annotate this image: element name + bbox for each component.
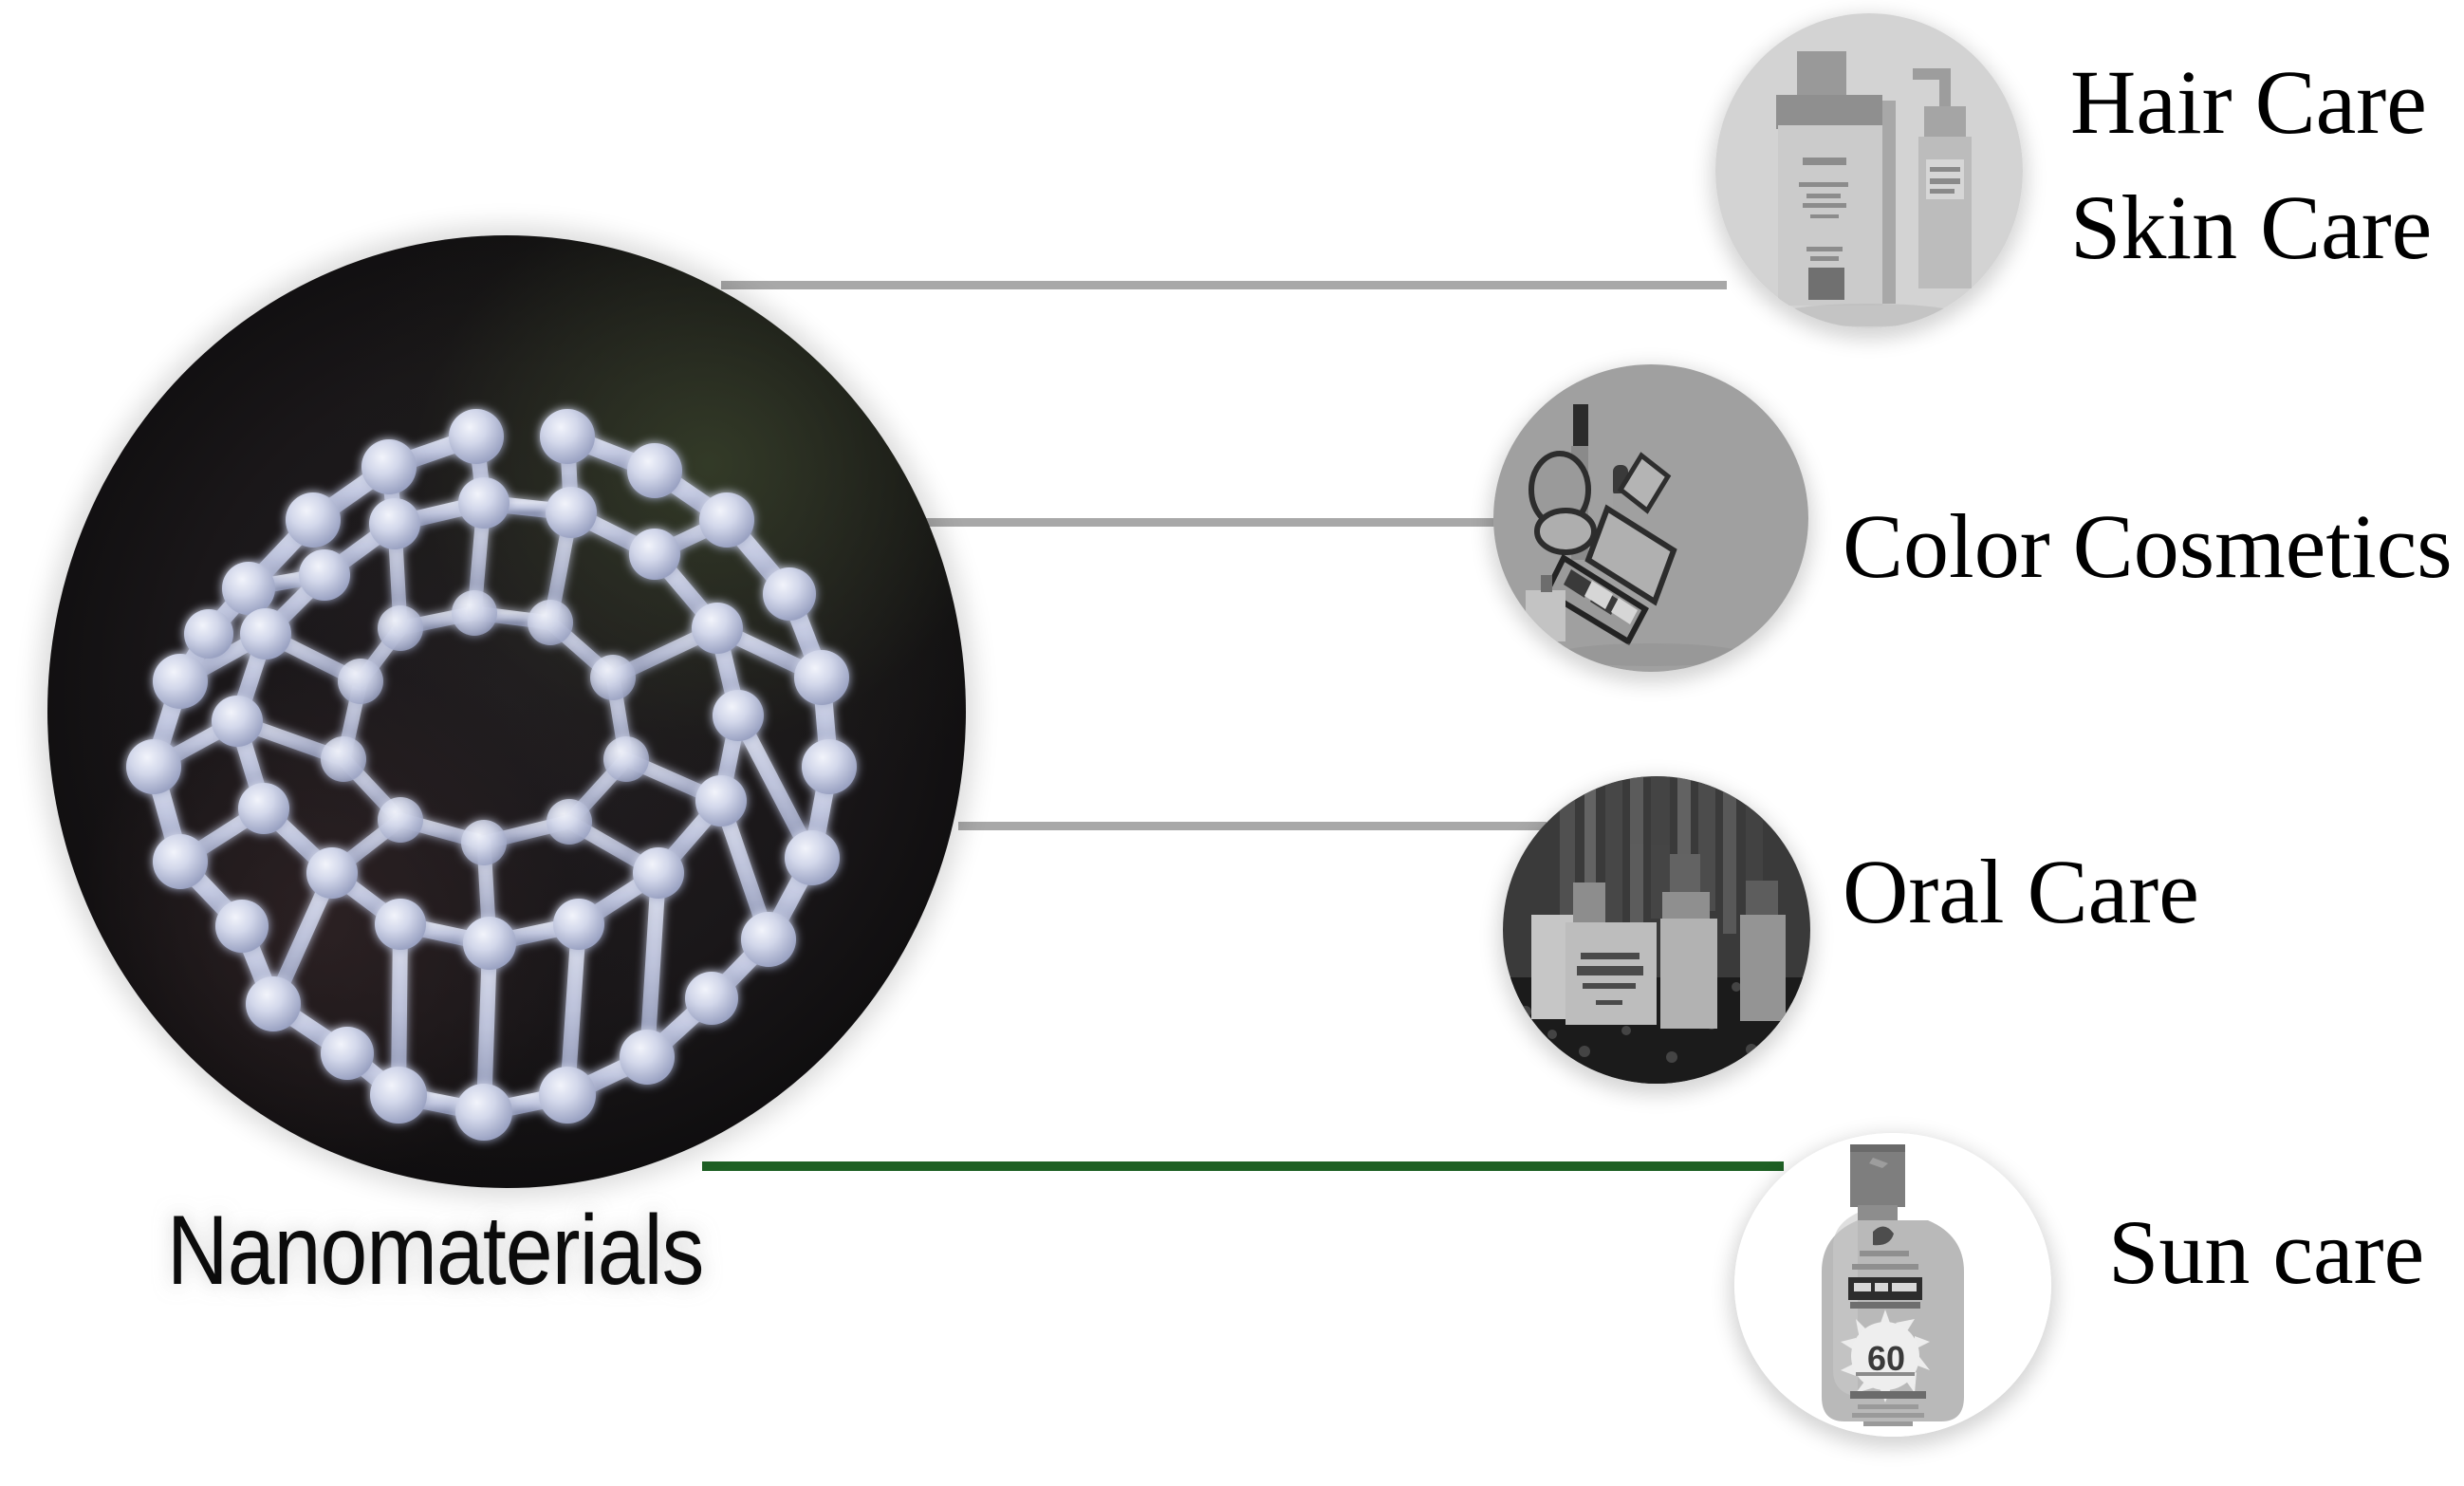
toothpaste-bottles-icon[interactable] <box>1503 776 1810 1084</box>
shampoo-bottles-icon[interactable] <box>1715 13 2023 328</box>
fullerene-buckyball-icon <box>47 235 966 1188</box>
connector-sun-care <box>702 1161 1784 1171</box>
category-label-oral-care: Oral Care <box>1843 846 2199 938</box>
connector-hair-skin <box>721 281 1727 289</box>
makeup-palette-icon[interactable] <box>1493 364 1808 672</box>
connector-color-cosmetics <box>913 518 1539 527</box>
category-label-hair-care: Hair Care <box>2070 57 2427 148</box>
nanomaterials-cosmetics-diagram: Nanomaterials <box>0 0 2464 1486</box>
category-label-color-cosmetics: Color Cosmetics <box>1843 501 2453 592</box>
sunscreen-bottle-icon[interactable]: 60 <box>1734 1133 2051 1437</box>
category-label-skin-care: Skin Care <box>2070 182 2432 273</box>
spf-value: 60 <box>1867 1339 1905 1378</box>
connector-oral-care <box>958 822 1547 830</box>
category-label-sun-care: Sun care <box>2108 1207 2424 1298</box>
page-title: Nanomaterials <box>167 1201 703 1300</box>
